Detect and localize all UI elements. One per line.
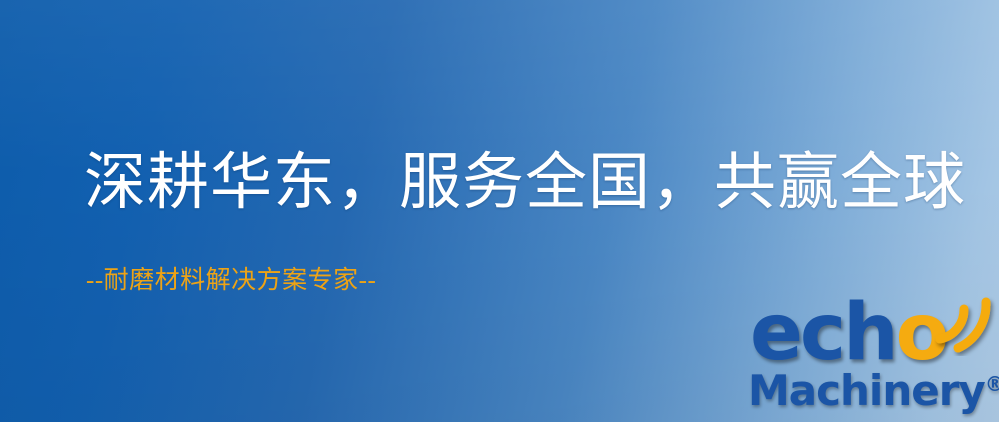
- banner-subheadline: --耐磨材料解决方案专家--: [86, 268, 376, 293]
- logo-text-ech: ech: [750, 296, 896, 370]
- echo-wave-icon: [934, 292, 999, 356]
- hero-banner: 深耕华东，服务全国，共赢全球 --耐磨材料解决方案专家-- ech o Mach: [0, 0, 999, 422]
- logo-tagline: Machinery®: [748, 366, 999, 415]
- logo-tagline-text: Machinery: [748, 366, 985, 415]
- registered-trademark-icon: ®: [985, 372, 999, 396]
- banner-headline: 深耕华东，服务全国，共赢全球: [84, 152, 966, 214]
- echo-machinery-logo[interactable]: ech o Machinery®: [748, 296, 999, 422]
- logo-wordmark: ech o: [750, 296, 946, 372]
